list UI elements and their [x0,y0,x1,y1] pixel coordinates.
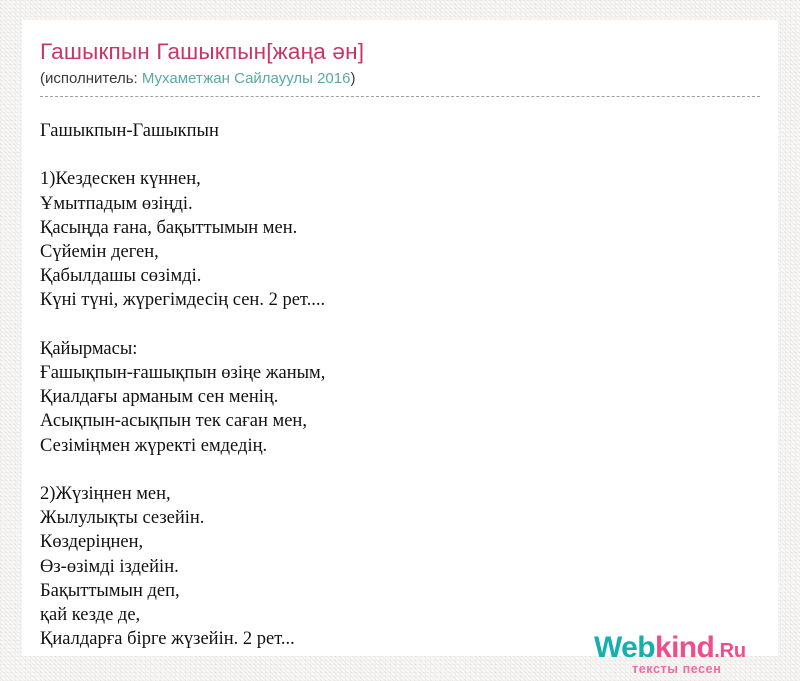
performer-suffix-label: ) [350,70,355,87]
logo-tagline: тексты песен [632,662,784,676]
song-header: Гашыкпын Гашыкпын[жаңа ән] (исполнитель:… [40,39,760,97]
content-card: Гашыкпын Гашыкпын[жаңа ән] (исполнитель:… [22,20,778,656]
performer-line: (исполнитель: Мухаметжан Сайлауулы 2016) [40,69,760,97]
lyrics-text: Гашыкпын-Гашыкпын 1)Кездескен күннен, Ұм… [40,119,740,651]
logo-part-tld: .Ru [714,640,746,662]
site-logo[interactable]: Webkind.Ru тексты песен [594,632,784,680]
page-title: Гашыкпын Гашыкпын[жаңа ән] [40,39,760,65]
performer-prefix-label: (исполнитель: [40,70,142,87]
logo-part-web: Web [594,631,655,664]
logo-part-kind: kind [655,631,714,664]
performer-link[interactable]: Мухаметжан Сайлауулы 2016 [142,70,351,87]
